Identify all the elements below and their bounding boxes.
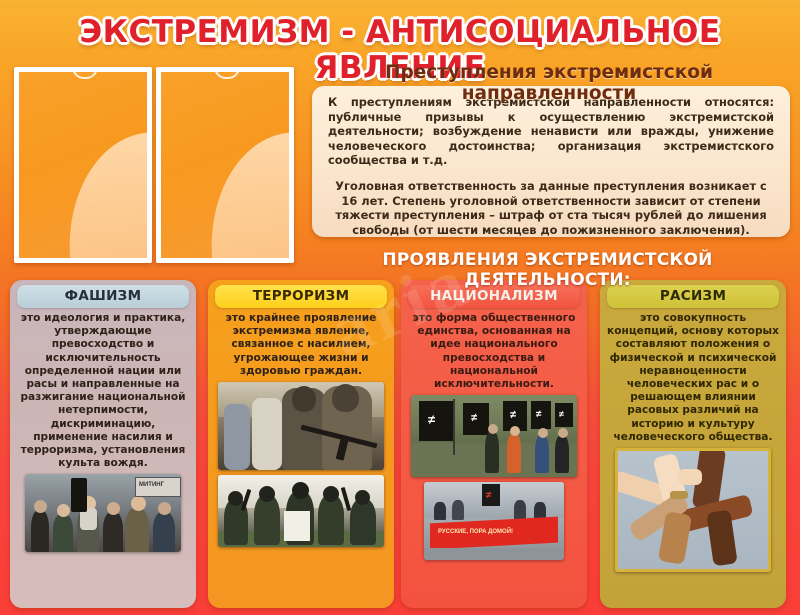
- black-flag-march-photo: ≠ ≠ ≠ ≠ ≠: [411, 395, 577, 477]
- manifestation-card-nationalism: НАЦИОНАЛИЗМ это форма общественного един…: [401, 280, 587, 608]
- card-photos-racism: [600, 444, 786, 608]
- card-text-terrorism: это крайнее проявление экстремизма явлен…: [209, 308, 393, 378]
- manifestation-card-terrorism: ТЕРРОРИЗМ это крайнее проявление экстрем…: [208, 280, 394, 608]
- card-text-fascism: это идеология и практика, утверждающие п…: [11, 308, 195, 470]
- card-text-racism: это совокупность концепций, основу котор…: [601, 308, 785, 444]
- joined-hands-diverse-skin-tones-photo: [615, 448, 771, 572]
- armed-militants-photo: [218, 382, 384, 470]
- card-text-nationalism: это форма общественного единства, основа…: [402, 308, 586, 391]
- manifestation-card-fascism: ФАШИЗМ это идеология и практика, утвержд…: [10, 280, 196, 608]
- crimes-section-heading: Преступления экстремистской направленнос…: [305, 62, 793, 104]
- page-title: ЭКСТРЕМИЗМ - АНТИСОЦИАЛЬНОЕ ЯВЛЕНИЕ: [0, 14, 800, 58]
- card-photos-fascism: МИТИНГ: [10, 470, 196, 608]
- photo-frame-right: [156, 67, 294, 263]
- frame-arc-decoration: [57, 123, 152, 263]
- card-photos-terrorism: [208, 378, 394, 608]
- crimes-paragraph-1: К преступлениям экстремистской направлен…: [326, 95, 776, 168]
- card-title-fascism: ФАШИЗМ: [17, 285, 189, 308]
- manifestation-card-racism: РАСИЗМ это совокупность концепций, основ…: [600, 280, 786, 608]
- masked-gunmen-group-photo: [218, 475, 384, 547]
- nationalist-rally-crowd-photo: МИТИНГ: [25, 474, 181, 552]
- poster-root: aria ЭКСТРЕМИЗМ - АНТИСОЦИАЛЬНОЕ ЯВЛЕНИЕ…: [0, 0, 800, 615]
- manifestations-heading: ПРОЯВЛЕНИЯ ЭКСТРЕМИСТСКОЙ ДЕЯТЕЛЬНОСТИ:: [300, 250, 795, 290]
- frame-arc-decoration: [199, 123, 294, 263]
- crimes-info-box: К преступлениям экстремистской направлен…: [312, 86, 790, 237]
- photo-frame-left: [14, 67, 152, 263]
- red-protest-banner-photo: ≠ РУССКИЕ, ПОРА ДОМОЙ!: [424, 482, 564, 560]
- crimes-paragraph-2: Уголовная ответственность за данные прес…: [326, 179, 776, 237]
- card-photos-nationalism: ≠ ≠ ≠ ≠ ≠ ≠: [401, 391, 587, 608]
